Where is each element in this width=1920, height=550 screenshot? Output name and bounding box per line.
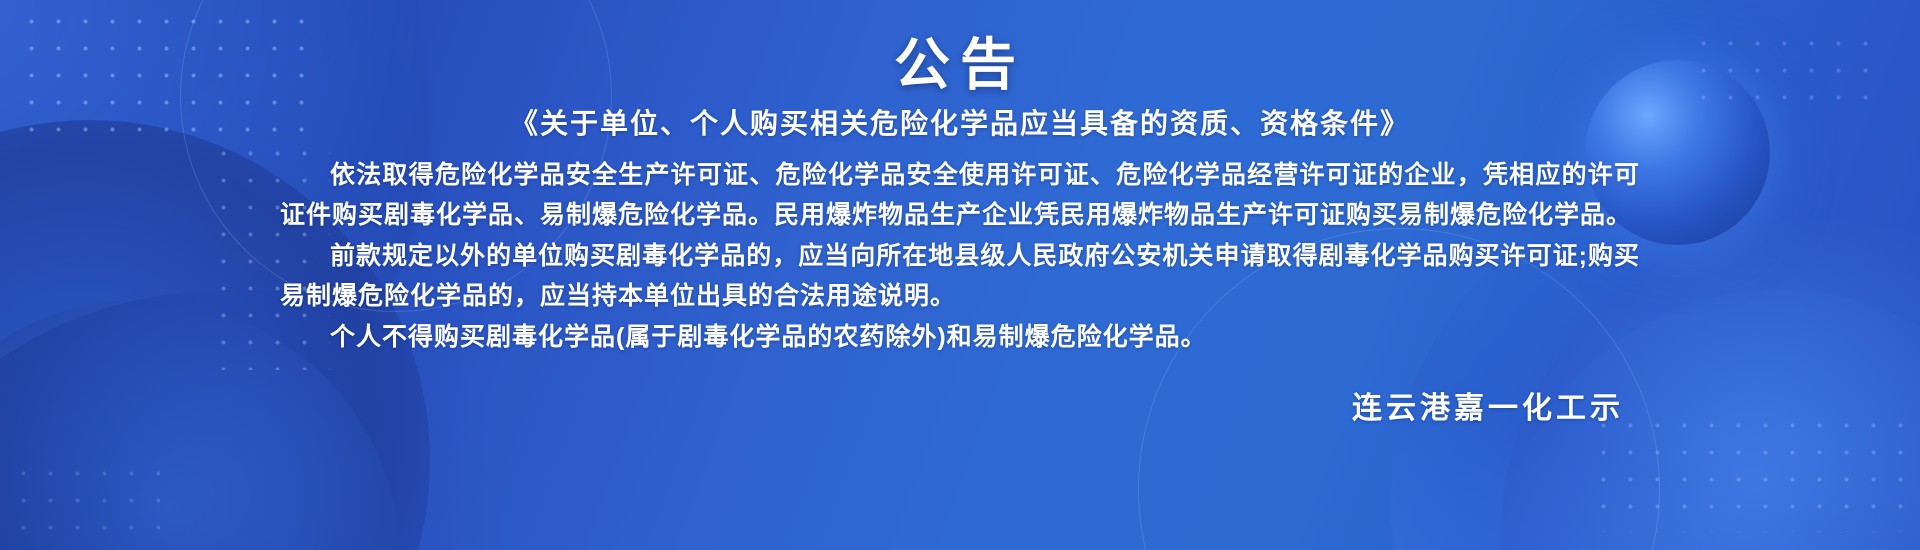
body-paragraph-1: 依法取得危险化学品安全生产许可证、危险化学品安全使用许可证、危险化学品经营许可证…	[280, 155, 1640, 236]
banner-content: 公告 《关于单位、个人购买相关危险化学品应当具备的资质、资格条件》 依法取得危险…	[0, 0, 1920, 550]
body-paragraph-3: 个人不得购买剧毒化学品(属于剧毒化学品的农药除外)和易制爆危险化学品。	[280, 317, 1640, 358]
signature: 连云港嘉一化工示	[280, 383, 1640, 427]
announcement-body: 依法取得危险化学品安全生产许可证、危险化学品安全使用许可证、危险化学品经营许可证…	[280, 155, 1640, 358]
page-title: 公告	[280, 36, 1640, 95]
announcement-banner: 公告 《关于单位、个人购买相关危险化学品应当具备的资质、资格条件》 依法取得危险…	[0, 0, 1920, 550]
page-subtitle: 《关于单位、个人购买相关危险化学品应当具备的资质、资格条件》	[280, 105, 1640, 143]
body-paragraph-2: 前款规定以外的单位购买剧毒化学品的，应当向所在地县级人民政府公安机关申请取得剧毒…	[280, 236, 1640, 317]
